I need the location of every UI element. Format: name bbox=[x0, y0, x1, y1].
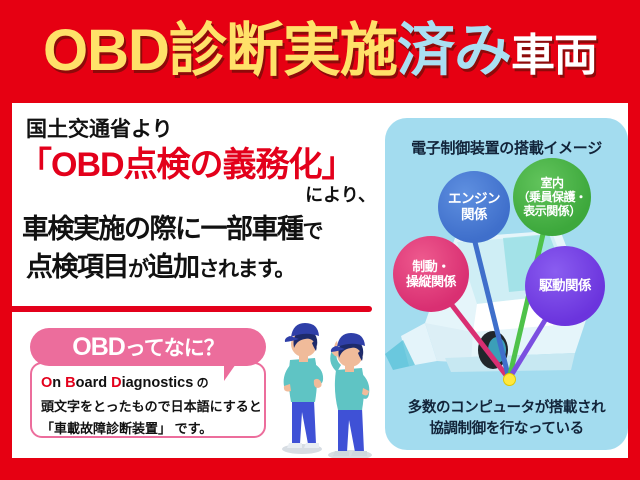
diagram-footer: 多数のコンピュータが搭載され 協調制御を行なっている bbox=[408, 398, 605, 440]
bubble-engine-line2: 関係 bbox=[448, 207, 500, 223]
obd-definition-box: On Board Diagnostics の 頭文字をとったもので日本語にすると… bbox=[30, 362, 266, 438]
obligation-heading: 「OBD点検の義務化」 bbox=[18, 137, 355, 186]
header-banner: OBD診断実施済み車両 bbox=[0, 0, 640, 103]
obd-letters: OBD bbox=[72, 333, 125, 361]
word-iagnostics: iagnostics bbox=[122, 375, 194, 391]
letter-o: O bbox=[41, 375, 52, 391]
diagram-footer-line-2: 協調制御を行なっている bbox=[408, 419, 605, 440]
title-part-white: 車両 bbox=[511, 34, 597, 78]
mechanic-left bbox=[284, 323, 323, 448]
mechanics-illustration bbox=[270, 308, 390, 458]
bubble-cabin-line1: 室内 bbox=[517, 176, 586, 190]
word-oard: oard bbox=[76, 375, 111, 391]
body-line-3: 車検実施の際に一部車種で bbox=[22, 207, 322, 246]
body-line-4: 点検項目が追加されます。 bbox=[26, 245, 294, 284]
mechanics-svg bbox=[270, 308, 390, 458]
body-line-3-main: 車検実施の際に一部車種 bbox=[22, 214, 303, 244]
word-n: n bbox=[52, 375, 65, 391]
bubble-cabin[interactable]: 室内 （乗員保護・ 表示関係） bbox=[513, 158, 591, 236]
bubble-cabin-line2: （乗員保護・ bbox=[517, 190, 586, 204]
bubble-brake-line1: 制動・ bbox=[406, 259, 456, 274]
computer-hub-node bbox=[503, 373, 516, 386]
mechanic-right bbox=[330, 333, 369, 456]
bubble-brake-line2: 操縦関係 bbox=[406, 274, 456, 289]
letter-d: D bbox=[111, 375, 121, 391]
particle-no: の bbox=[193, 376, 208, 390]
body-line-4-main: 点検項目 bbox=[26, 252, 128, 282]
obd-question-suffix: ってなに？ bbox=[125, 337, 224, 360]
bubble-drive[interactable]: 駆動関係 bbox=[525, 246, 605, 326]
diagram-footer-line-1: 多数のコンピュータが搭載され bbox=[408, 398, 605, 419]
bubble-drive-line1: 駆動関係 bbox=[539, 278, 591, 294]
title-part-cyan: 済み bbox=[397, 22, 511, 80]
bubble-brake[interactable]: 制動・ 操縦関係 bbox=[393, 236, 469, 312]
obd-definition-line-1: On Board Diagnostics の bbox=[41, 371, 264, 396]
body-line-4-tail: されます。 bbox=[199, 258, 294, 281]
obd-definition-line-2: 頭文字をとったもので日本語にすると bbox=[41, 396, 264, 418]
left-column: 国土交通省より 「OBD点検の義務化」 により、 車検実施の際に一部車種で 点検… bbox=[12, 103, 384, 458]
title-part-yellow: OBD診断実施 bbox=[43, 22, 397, 80]
content-card: 国土交通省より 「OBD点検の義務化」 により、 車検実施の際に一部車種で 点検… bbox=[12, 103, 628, 458]
bubble-cabin-line3: 表示関係） bbox=[517, 204, 586, 218]
bubble-engine-line1: エンジン bbox=[448, 191, 500, 207]
by-that-text: により、 bbox=[305, 181, 376, 207]
page-title: OBD診断実施済み車両 bbox=[43, 22, 597, 80]
body-line-3-tail: で bbox=[303, 220, 323, 243]
ecu-diagram-panel: 電子制御装置の搭載イメージ bbox=[385, 118, 628, 450]
body-line-4-main2: 追加 bbox=[148, 252, 199, 282]
letter-b: B bbox=[65, 375, 75, 391]
body-line-4-mid: が bbox=[128, 258, 148, 281]
obd-definition-line-3: 「車載故障診断装置」 です。 bbox=[41, 418, 264, 440]
obd-question-text: OBDってなに？ bbox=[72, 332, 224, 362]
bubble-engine[interactable]: エンジン 関係 bbox=[438, 171, 510, 243]
